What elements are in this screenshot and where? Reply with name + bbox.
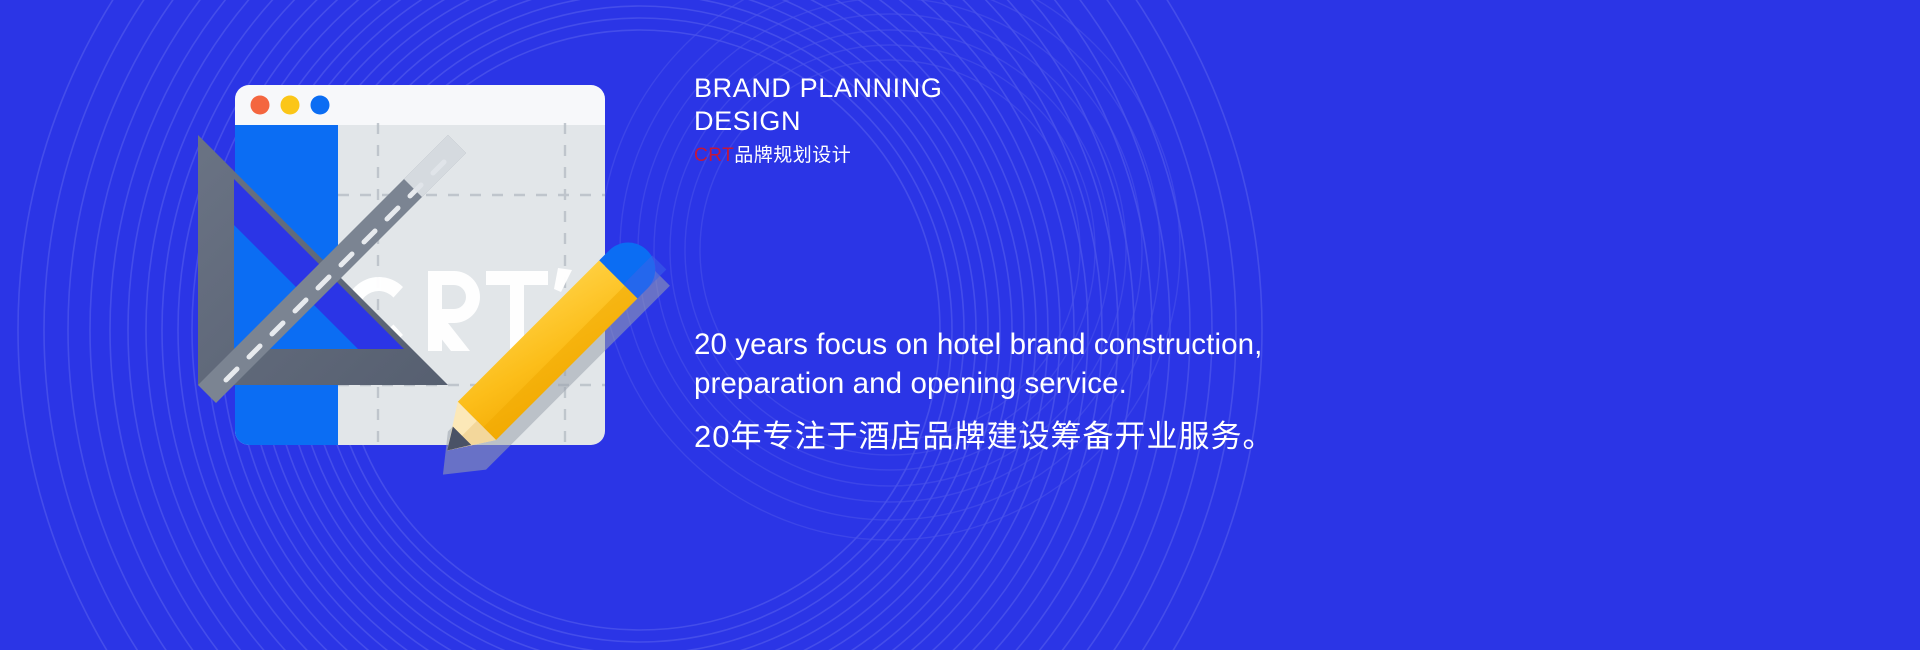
- tagline-chinese: 20年专注于酒店品牌建设筹备开业服务。: [694, 417, 1454, 457]
- brand-banner: BRAND PLANNING DESIGN CRT品牌规划设计 20 years…: [0, 0, 1920, 650]
- maximize-dot: [311, 96, 330, 115]
- heading-block: BRAND PLANNING DESIGN CRT品牌规划设计: [694, 72, 942, 168]
- brand-design-illustration: [190, 75, 690, 550]
- heading-chinese-label: 品牌规划设计: [734, 145, 851, 166]
- tagline-english: 20 years focus on hotel brand constructi…: [694, 325, 1454, 403]
- window-control-dots: [251, 96, 330, 115]
- banner-text-column: BRAND PLANNING DESIGN CRT品牌规划设计 20 years…: [694, 0, 1894, 650]
- heading-chinese-row: CRT品牌规划设计: [694, 145, 942, 168]
- minimize-dot: [281, 96, 300, 115]
- heading-brand-abbr: CRT: [694, 145, 734, 166]
- close-dot: [251, 96, 270, 115]
- tagline-block: 20 years focus on hotel brand constructi…: [694, 325, 1454, 458]
- heading-english: BRAND PLANNING DESIGN: [694, 72, 942, 138]
